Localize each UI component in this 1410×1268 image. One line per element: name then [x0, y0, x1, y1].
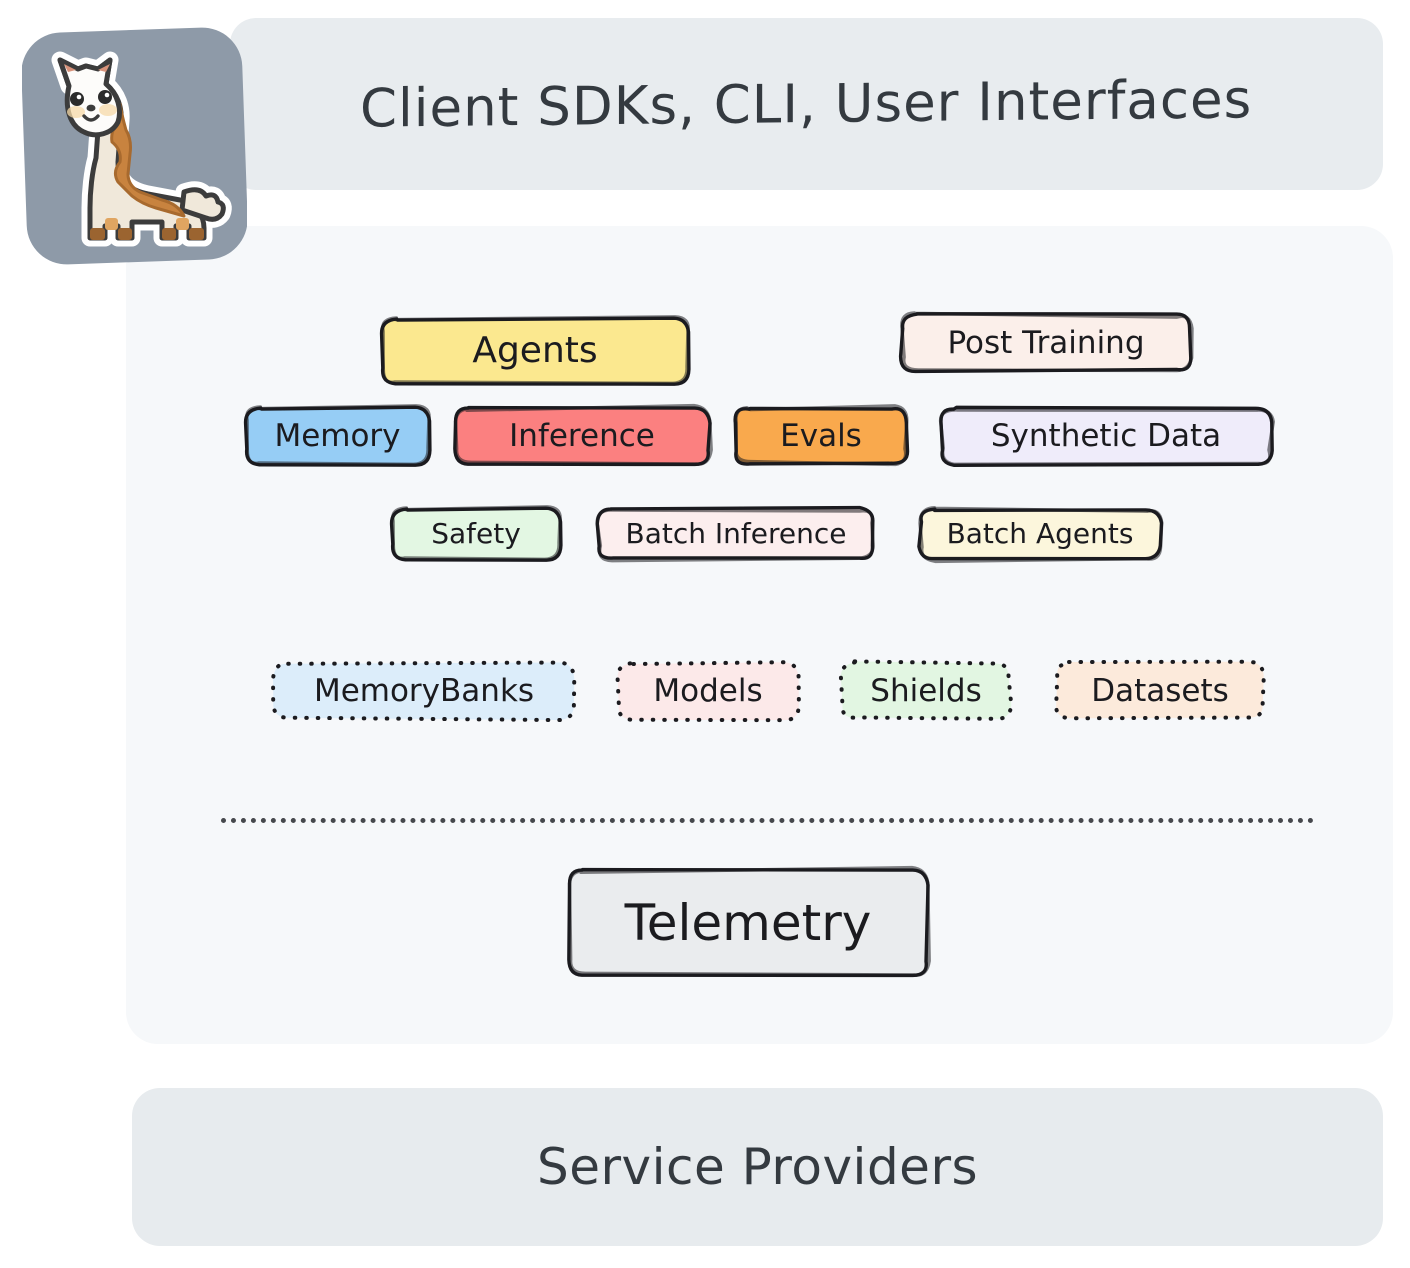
header-banner: Client SDKs, CLI, User Interfaces — [230, 18, 1383, 190]
api-row-core: MemoryInferenceEvalsSynthetic Data — [246, 408, 1271, 464]
section-divider — [221, 818, 1314, 823]
api-box-post-training[interactable]: Post Training — [902, 315, 1190, 371]
resource-box-shields-label: Shields — [870, 676, 981, 707]
api-row-primary: AgentsPost Training — [382, 319, 1190, 383]
resource-box-datasets-label: Datasets — [1091, 676, 1229, 707]
resource-box-shields[interactable]: Shields — [842, 663, 1010, 719]
telemetry-wrap: Telemetry — [569, 870, 927, 975]
api-box-inference[interactable]: Inference — [455, 408, 709, 464]
llama-logo — [22, 22, 247, 274]
api-box-safety-label: Safety — [431, 520, 521, 548]
api-box-evals-label: Evals — [780, 421, 862, 452]
api-box-batch-agents[interactable]: Batch Agents — [920, 509, 1160, 559]
api-box-synthetic-data[interactable]: Synthetic Data — [941, 408, 1271, 464]
footer-title: Service Providers — [537, 1138, 978, 1196]
api-box-evals[interactable]: Evals — [735, 408, 907, 464]
api-box-synthetic-data-label: Synthetic Data — [991, 421, 1221, 452]
resource-box-datasets[interactable]: Datasets — [1056, 663, 1264, 719]
api-box-memory[interactable]: Memory — [246, 408, 429, 464]
main-panel: AgentsPost Training MemoryInferenceEvals… — [126, 226, 1393, 1044]
api-box-batch-inference[interactable]: Batch Inference — [598, 509, 874, 559]
api-box-memory-label: Memory — [274, 421, 400, 452]
api-box-agents[interactable]: Agents — [382, 319, 688, 383]
telemetry-box-telemetry[interactable]: Telemetry — [569, 870, 927, 975]
telemetry-box-telemetry-label: Telemetry — [625, 898, 872, 948]
page-title: Client SDKs, CLI, User Interfaces — [360, 69, 1252, 139]
api-row-secondary: SafetyBatch InferenceBatch Agents — [392, 509, 1160, 559]
resource-box-models[interactable]: Models — [618, 663, 798, 719]
api-box-agents-label: Agents — [472, 333, 597, 369]
resource-box-models-label: Models — [653, 676, 762, 707]
resource-box-memorybanks-label: MemoryBanks — [314, 676, 534, 707]
api-box-safety[interactable]: Safety — [392, 509, 560, 559]
footer-banner: Service Providers — [132, 1088, 1383, 1246]
resource-box-memorybanks[interactable]: MemoryBanks — [274, 663, 574, 719]
api-box-inference-label: Inference — [509, 421, 655, 452]
api-box-batch-agents-label: Batch Agents — [947, 520, 1134, 548]
api-box-batch-inference-label: Batch Inference — [626, 520, 847, 548]
resource-row: MemoryBanksModelsShieldsDatasets — [274, 663, 1264, 719]
api-box-post-training-label: Post Training — [947, 328, 1144, 359]
